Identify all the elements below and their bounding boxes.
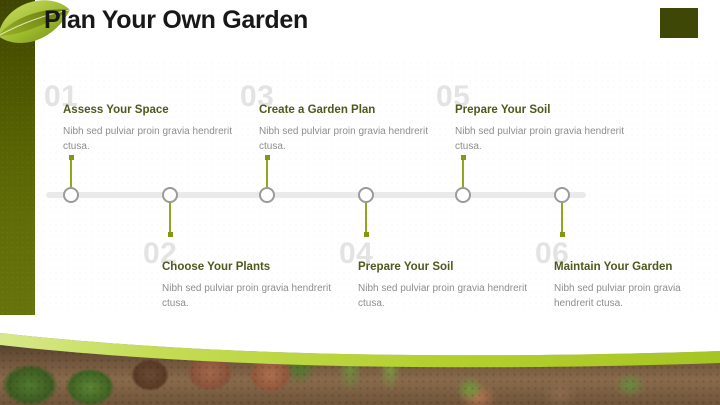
timeline-stem-dot-06 [560, 232, 565, 237]
corner-square [660, 8, 698, 38]
timeline-item-heading: Prepare Your Soil [358, 261, 548, 275]
timeline-node-06[interactable] [554, 187, 570, 203]
timeline-bar [46, 192, 586, 198]
timeline-item-05[interactable]: 05 Prepare Your Soil Nibh sed pulviar pr… [455, 104, 645, 155]
timeline-item-description: Nibh sed pulviar proin gravia hendrerit … [63, 124, 253, 155]
timeline-node-04[interactable] [358, 187, 374, 203]
timeline-stem-dot-03 [265, 155, 270, 160]
timeline-item-heading: Prepare Your Soil [455, 104, 645, 118]
timeline-item-04[interactable]: 04 Prepare Your Soil Nibh sed pulviar pr… [358, 261, 548, 312]
timeline-node-02[interactable] [162, 187, 178, 203]
timeline-stem-02 [169, 202, 171, 234]
footer-image-band [0, 315, 720, 405]
timeline-item-02[interactable]: 02 Choose Your Plants Nibh sed pulviar p… [162, 261, 352, 312]
timeline-item-heading: Maintain Your Garden [554, 261, 704, 275]
timeline-stem-03 [266, 158, 268, 190]
timeline-item-description: Nibh sed pulviar proin gravia hendrerit … [162, 281, 352, 312]
timeline-stem-05 [462, 158, 464, 190]
timeline-stem-01 [70, 158, 72, 190]
timeline-stem-dot-01 [69, 155, 74, 160]
timeline-item-heading: Assess Your Space [63, 104, 253, 118]
timeline-item-description: Nibh sed pulviar proin gravia hendrerit … [455, 124, 645, 155]
timeline-stem-04 [365, 202, 367, 234]
timeline-item-description: Nibh sed pulviar proin gravia hendrerit … [259, 124, 449, 155]
timeline-stem-dot-02 [168, 232, 173, 237]
slide-root: Plan Your Own Garden 01 Assess Your Spac… [0, 0, 720, 405]
timeline-item-description: Nibh sed pulviar proin gravia hendrerit … [554, 281, 704, 312]
timeline-stem-dot-04 [364, 232, 369, 237]
timeline-stem-06 [561, 202, 563, 234]
timeline-node-03[interactable] [259, 187, 275, 203]
timeline-stem-dot-05 [461, 155, 466, 160]
timeline-item-description: Nibh sed pulviar proin gravia hendrerit … [358, 281, 548, 312]
timeline-node-05[interactable] [455, 187, 471, 203]
timeline-item-06[interactable]: 06 Maintain Your Garden Nibh sed pulviar… [554, 261, 704, 312]
timeline-item-03[interactable]: 03 Create a Garden Plan Nibh sed pulviar… [259, 104, 449, 155]
timeline-item-01[interactable]: 01 Assess Your Space Nibh sed pulviar pr… [63, 104, 253, 155]
timeline-node-01[interactable] [63, 187, 79, 203]
page-title: Plan Your Own Garden [44, 6, 308, 35]
wave-white-mask [0, 315, 720, 405]
timeline-item-heading: Create a Garden Plan [259, 104, 449, 118]
timeline-item-heading: Choose Your Plants [162, 261, 352, 275]
